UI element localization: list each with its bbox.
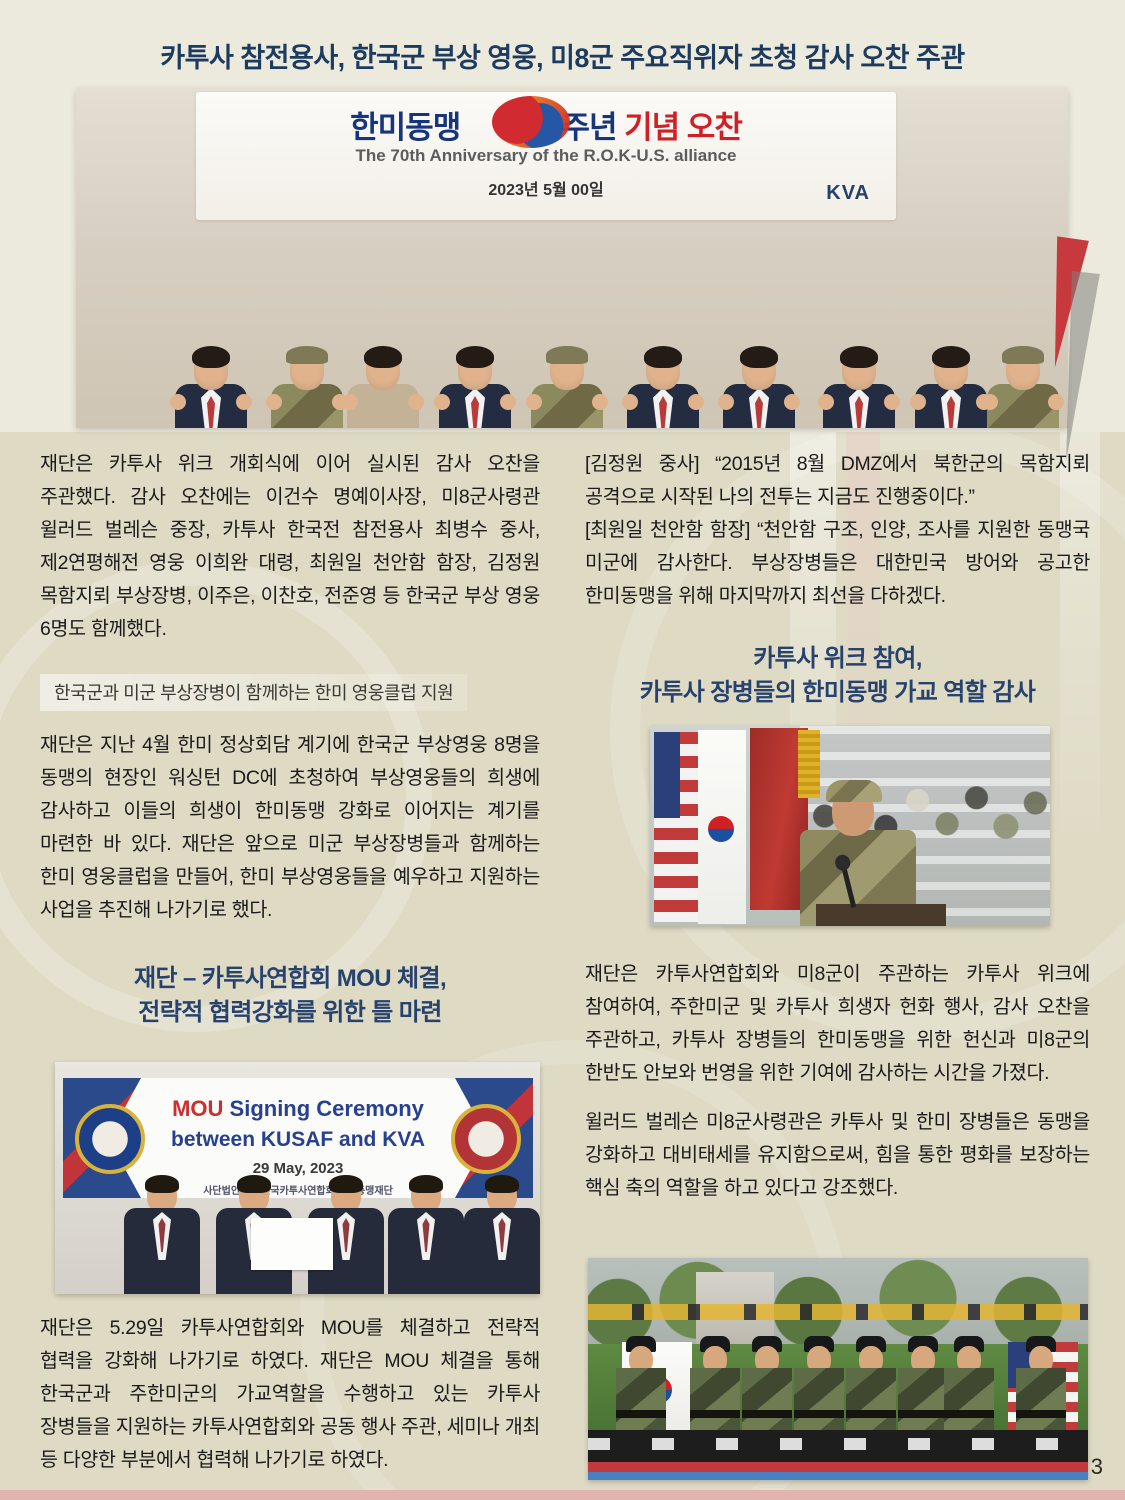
hero-banner-title-anniv: 주년 bbox=[561, 110, 616, 145]
mou-heading-line-1: 재단 – 카투사연합회 MOU 체결, bbox=[40, 962, 540, 996]
red-mat-strip bbox=[588, 1462, 1088, 1472]
signed-document bbox=[251, 1218, 333, 1270]
person bbox=[385, 1178, 467, 1294]
right-paragraph-1: 재단은 카투사연합회와 미8군이 주관하는 카투사 위크에 참여하여, 주한미군… bbox=[585, 958, 1090, 1090]
person bbox=[461, 1178, 540, 1294]
mou-signatories-row bbox=[55, 1174, 540, 1294]
left-paragraph-2: 재단은 지난 4월 한미 정상회담 계기에 한국군 부상영웅 8명을 동맹의 현… bbox=[40, 729, 540, 927]
hero-banner-title-main: 한미동맹 bbox=[350, 110, 460, 145]
left-column-lower: 재단은 5.29일 카투사연합회와 MOU를 체결하고 전략적 협력을 강화해 … bbox=[40, 1312, 540, 1477]
blue-mat-strip bbox=[588, 1472, 1088, 1480]
bottom-accent-bar bbox=[0, 1490, 1125, 1500]
commander-cap bbox=[826, 780, 882, 802]
hero-banner-date: 2023년 5월 00일 bbox=[196, 176, 896, 200]
right-column: [김정원 중사] “2015년 8월 DMZ에서 북한군의 목함지뢰 공격으로 … bbox=[585, 448, 1090, 629]
left-paragraph-1: 재단은 카투사 위크 개회식에 이어 실시된 감사 오찬을 주관했다. 감사 오… bbox=[40, 448, 540, 646]
seventy-logo-icon bbox=[492, 96, 570, 148]
page-number: 3 bbox=[1091, 1454, 1103, 1480]
korea-flag-icon bbox=[698, 730, 746, 924]
mou-heading-line-2: 전략적 협력강화를 위한 틀 마련 bbox=[40, 996, 540, 1030]
mou-banner-mou-word: MOU bbox=[172, 1096, 223, 1121]
gold-tassel bbox=[798, 730, 820, 798]
katusa-week-heading-block: 카투사 위크 참여, 카투사 장병들의 한미동맹 가교 역할 감사 bbox=[585, 642, 1090, 710]
group-photo-luncheon: 한미동맹 주년 기념 오찬 The 70th Anniversary of th… bbox=[76, 88, 1068, 428]
mou-signing-ceremony-photo: MOU Signing Ceremony between KUSAF and K… bbox=[55, 1062, 540, 1294]
right-quote-1: [김정원 중사] “2015년 8월 DMZ에서 북한군의 목함지뢰 공격으로 … bbox=[585, 448, 1090, 514]
ground-mat bbox=[588, 1430, 1088, 1464]
right-paragraph-2: 윌러드 벌레슨 미8군사령관은 카투사 및 한미 장병들은 동맹을 강화하고 대… bbox=[585, 1106, 1090, 1205]
hero-club-subtitle: 한국군과 미군 부상장병이 함께하는 한미 영웅클럽 지원 bbox=[40, 674, 467, 711]
us-commander-at-podium-photo bbox=[650, 726, 1050, 926]
left-paragraph-3: 재단은 5.29일 카투사연합회와 MOU를 체결하고 전략적 협력을 강화해 … bbox=[40, 1312, 540, 1477]
soldiers-marching-with-flags-photo bbox=[588, 1258, 1088, 1480]
left-column: 재단은 카투사 위크 개회식에 이어 실시된 감사 오찬을 주관했다. 감사 오… bbox=[40, 448, 540, 927]
background-railing bbox=[588, 1304, 1088, 1320]
katusa-heading-line-1: 카투사 위크 참여, bbox=[585, 642, 1090, 676]
right-column-lower: 재단은 카투사연합회와 미8군이 주관하는 카투사 위크에 참여하여, 주한미군… bbox=[585, 958, 1090, 1205]
katusa-heading-line-2: 카투사 장병들의 한미동맹 가교 역할 감사 bbox=[585, 676, 1090, 710]
newsletter-page: 카투사 참전용사, 한국군 부상 영웅, 미8군 주요직위자 초청 감사 오찬 … bbox=[0, 0, 1125, 1500]
podium bbox=[816, 904, 946, 926]
us-flag-icon bbox=[654, 732, 698, 922]
hero-banner-title-tail: 기념 오찬 bbox=[624, 110, 742, 145]
page-title: 카투사 참전용사, 한국군 부상 영웅, 미8군 주요직위자 초청 감사 오찬 … bbox=[0, 36, 1125, 75]
right-quote-2: [최원일 천안함 함장] “천안함 구조, 인양, 조사를 지원한 동맹국 미군… bbox=[585, 514, 1090, 613]
mou-banner-line-1: MOU Signing Ceremony bbox=[63, 1096, 533, 1122]
mou-heading-block: 재단 – 카투사연합회 MOU 체결, 전략적 협력강화를 위한 틀 마련 bbox=[40, 962, 540, 1030]
hero-banner-subtitle: The 70th Anniversary of the R.O.K-U.S. a… bbox=[196, 146, 896, 166]
mou-banner-line-2: between KUSAF and KVA bbox=[63, 1128, 533, 1152]
person bbox=[121, 1178, 203, 1294]
mou-banner-signing-ceremony: Signing Ceremony bbox=[223, 1096, 423, 1121]
